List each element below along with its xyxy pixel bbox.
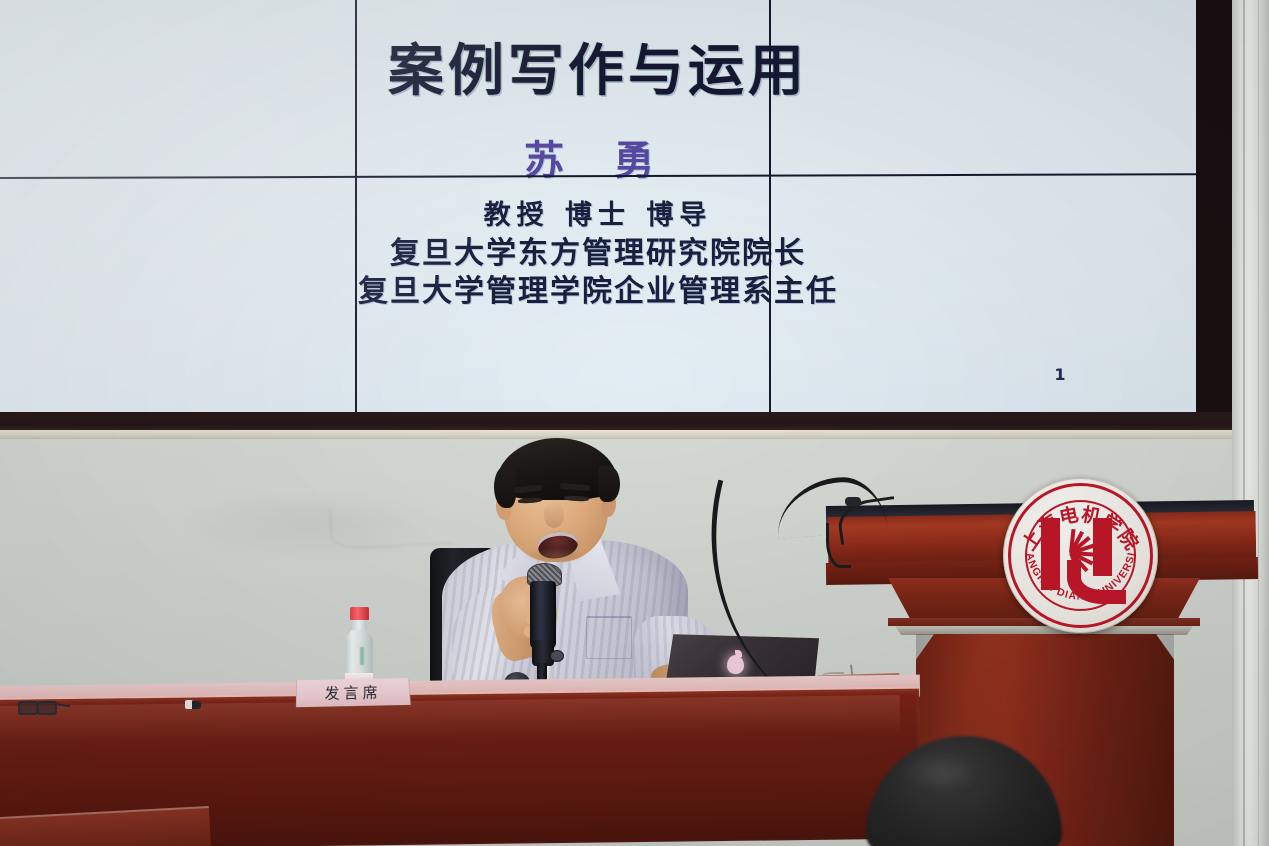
pillar-edge-line xyxy=(1243,0,1245,846)
slide-affiliation-2: 复旦大学管理学院企业管理系主任 xyxy=(0,266,1196,310)
nameplate-label: 发言席 xyxy=(324,682,381,704)
gooseneck-microphone-capsule xyxy=(845,497,861,506)
nameplate-card: 发言席 xyxy=(296,678,411,707)
university-emblem: 上海电机学院 SHANGHAI DIANJI UNIVERSITY xyxy=(1003,478,1158,633)
presentation-slide: 案例写作与运用 苏 勇 教授 博士 博导 复旦大学东方管理研究院院长 复旦大学管… xyxy=(0,0,1196,414)
screen-trim-strip xyxy=(0,430,1238,439)
slide-credentials: 教授 博士 博导 xyxy=(0,193,1196,232)
apple-logo-icon xyxy=(727,655,744,674)
microphone-body[interactable] xyxy=(530,581,556,649)
shirt-pocket xyxy=(586,616,632,659)
slide-page-number: 1 xyxy=(1040,365,1080,384)
speaker-hair-right xyxy=(598,466,620,502)
bottle-label-accent xyxy=(360,647,364,665)
bottle-neck xyxy=(352,619,367,630)
emblem-monogram-icon xyxy=(1041,518,1121,592)
speaker-chin-shadow xyxy=(524,548,588,564)
eyeglasses-icon[interactable] xyxy=(18,700,70,713)
lecture-hall-photo: 案例写作与运用 苏 勇 教授 博士 博导 复旦大学东方管理研究院院长 复旦大学管… xyxy=(0,0,1269,846)
video-wall-frame: 案例写作与运用 苏 勇 教授 博士 博导 复旦大学东方管理研究院院长 复旦大学管… xyxy=(0,0,1232,438)
panel-seam-vertical-right xyxy=(769,0,771,414)
slide-title: 案例写作与运用 xyxy=(0,26,1196,107)
eyeglass-lens-left xyxy=(18,701,38,715)
table-small-object[interactable] xyxy=(185,700,201,709)
speaker-hair-left xyxy=(494,466,516,508)
wall-pillar xyxy=(1232,0,1269,846)
pillar-edge-line-outer xyxy=(1258,0,1259,846)
wall-marker-trace xyxy=(329,502,453,550)
table-small-object-dark xyxy=(192,701,201,709)
monogram-left-bar xyxy=(1041,518,1060,590)
speaker-nose xyxy=(544,502,564,528)
panel-seam-vertical-left xyxy=(355,0,357,414)
audience-hair-highlight xyxy=(900,752,980,792)
microphone-knob[interactable] xyxy=(551,651,563,661)
video-wall-display[interactable]: 案例写作与运用 苏 勇 教授 博士 博导 复旦大学东方管理研究院院长 复旦大学管… xyxy=(0,0,1196,414)
bottle-cap[interactable] xyxy=(350,607,369,620)
